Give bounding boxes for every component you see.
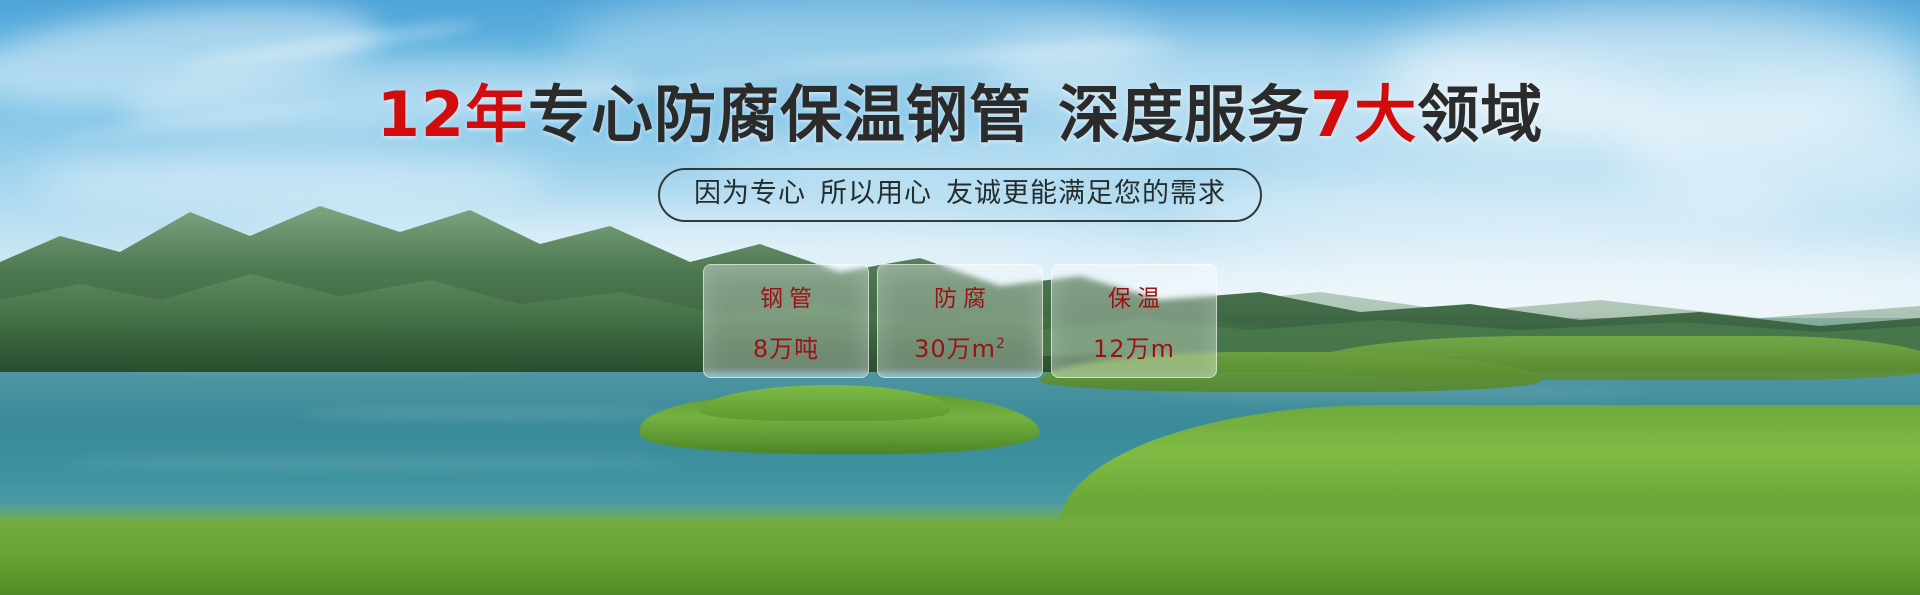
stat-card-value: 12万m	[1093, 329, 1175, 364]
tagline-segment-1: 因为专心	[694, 178, 806, 209]
headline-main-text: 专心防腐保温钢管	[528, 78, 1032, 151]
tagline-pill: 因为专心所以用心友诚更能满足您的需求	[658, 168, 1262, 222]
stat-card-value: 8万吨	[753, 329, 819, 364]
grass-field-bottom	[0, 503, 1920, 595]
stat-card-anticorrosion[interactable]: 防腐 30万m2	[877, 264, 1043, 378]
stat-card-title: 防腐	[928, 279, 992, 313]
hero-banner: 12年专心防腐保温钢管深度服务7大领域 因为专心所以用心友诚更能满足您的需求 钢…	[0, 0, 1920, 595]
stat-card-value-superscript: 2	[996, 336, 1006, 352]
stat-card-value: 30万m2	[914, 329, 1006, 364]
stat-card-value-text: 8万吨	[753, 335, 819, 363]
stat-card-value-text: 30万m	[914, 335, 996, 363]
stat-card-value-text: 12万m	[1093, 335, 1175, 363]
stat-card-list: 钢管 8万吨 防腐 30万m2 保温 12万m	[703, 264, 1217, 378]
headline-years-number: 12	[377, 78, 465, 151]
headline-service-text: 深度服务	[1058, 78, 1310, 151]
headline-years-suffix: 年	[465, 78, 528, 151]
tagline-segment-3: 友诚更能满足您的需求	[946, 178, 1226, 209]
headline-fields-number: 7大	[1310, 78, 1417, 151]
tagline-segment-2: 所以用心	[820, 178, 932, 209]
stat-card-title: 钢管	[754, 279, 818, 313]
stat-card-steel-pipe[interactable]: 钢管 8万吨	[703, 264, 869, 378]
stat-card-title: 保温	[1102, 279, 1166, 313]
stat-card-insulation[interactable]: 保温 12万m	[1051, 264, 1217, 378]
headline-fields-tail: 领域	[1417, 78, 1543, 151]
page-title: 12年专心防腐保温钢管深度服务7大领域	[0, 84, 1920, 146]
far-shore-grass	[1300, 336, 1920, 380]
